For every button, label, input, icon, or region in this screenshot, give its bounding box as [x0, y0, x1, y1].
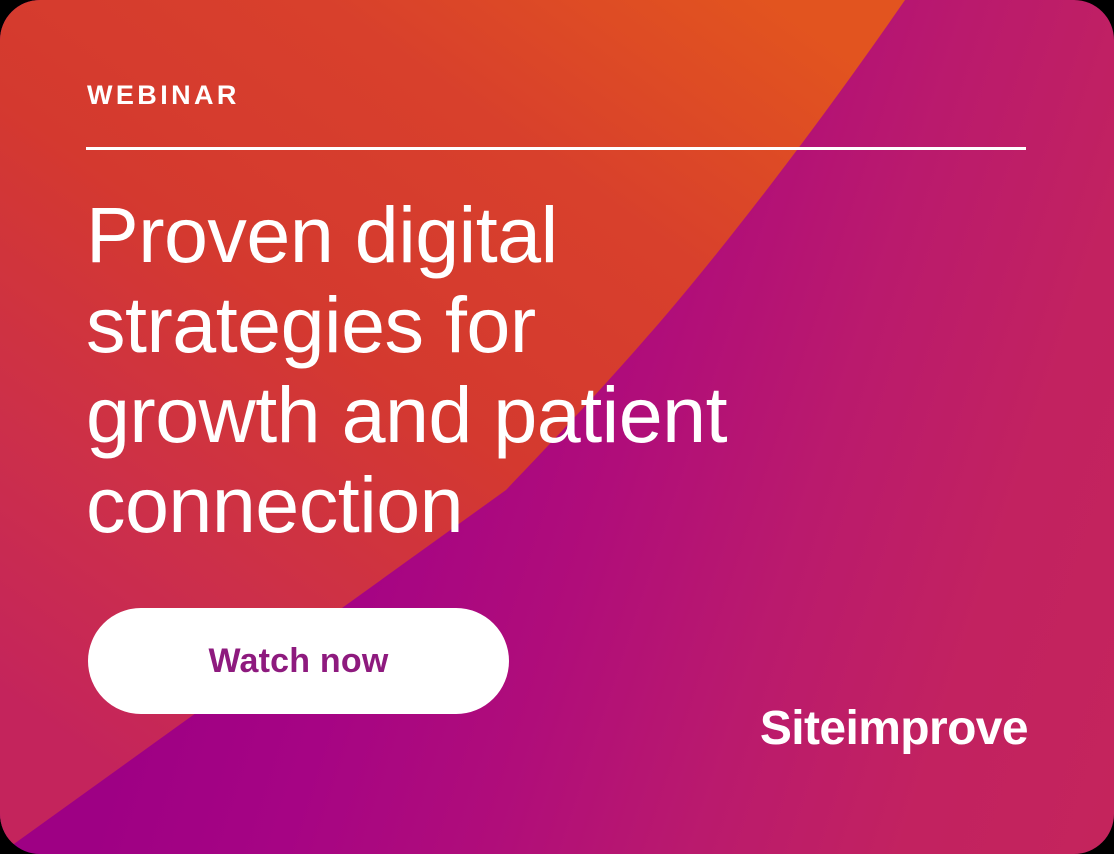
headline-line-2: strategies for — [86, 280, 986, 370]
headline-line-4: connection — [86, 460, 986, 550]
divider-rule — [86, 147, 1026, 150]
banner-content: WEBINAR Proven digital strategies for gr… — [0, 0, 1114, 854]
headline-line-1: Proven digital — [86, 190, 986, 280]
siteimprove-logo: Siteimprove — [760, 705, 1028, 753]
page-title: Proven digital strategies for growth and… — [86, 190, 986, 550]
watch-now-button[interactable]: Watch now — [88, 608, 509, 714]
webinar-promo-banner: WEBINAR Proven digital strategies for gr… — [0, 0, 1114, 854]
eyebrow-label: WEBINAR — [87, 82, 240, 109]
headline-line-3: growth and patient — [86, 370, 986, 460]
